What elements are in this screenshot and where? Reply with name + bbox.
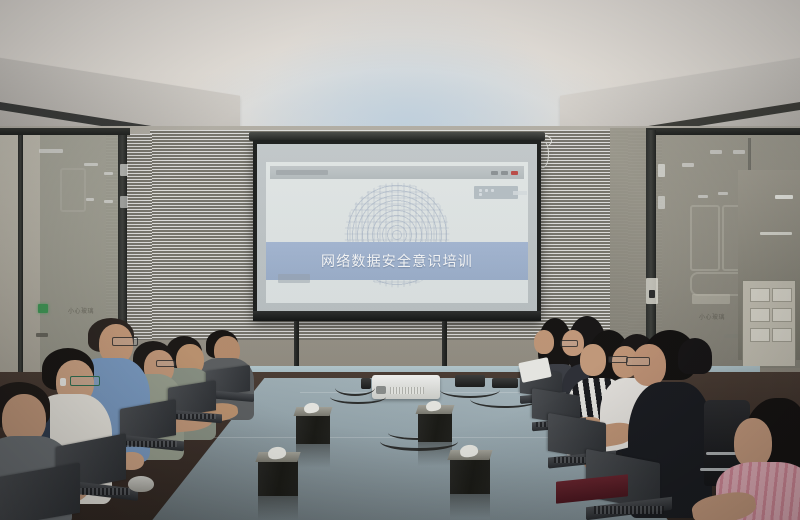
ceiling-light-reflection <box>39 149 63 153</box>
ceiling-light-reflection <box>698 195 708 198</box>
reflected-door-outline <box>60 168 86 212</box>
ceiling-light-reflection <box>104 172 113 175</box>
ceiling-light-reflection <box>84 163 98 166</box>
chair-armrest <box>706 452 736 455</box>
exit-sign-icon <box>38 304 48 313</box>
tissue-box-body <box>296 414 330 444</box>
eyeglasses-icon <box>156 360 176 367</box>
attendee-head <box>580 344 606 376</box>
shelf-item <box>772 308 792 322</box>
attendee-hair <box>678 338 712 374</box>
conference-room-photo: 小心玻璃 小心玻璃 <box>0 0 800 520</box>
wall-sensor-reflection <box>120 164 128 176</box>
glass-warning-decal: 小心玻璃 <box>699 312 725 321</box>
shelf-item <box>772 328 792 342</box>
window-title-placeholder <box>276 170 328 175</box>
projection-screen: 网络数据安全意识培训 <box>253 140 541 321</box>
window-controls <box>491 171 518 175</box>
tissue-box-body <box>418 412 452 442</box>
tissue-box-body <box>258 460 298 496</box>
reader-button[interactable] <box>649 290 655 298</box>
tissue-box-reflection <box>450 494 490 518</box>
maximize-icon[interactable] <box>501 171 508 175</box>
wall-switch-reflection <box>658 196 665 209</box>
tissue-box-reflection <box>418 442 452 466</box>
cable-run <box>330 390 386 404</box>
laptop-keyboard[interactable] <box>172 414 216 419</box>
ceiling-light-reflection <box>104 200 113 203</box>
ceiling-light-reflection <box>733 150 745 154</box>
reflected-room-outline <box>690 205 720 271</box>
wall-sensor-reflection <box>120 196 128 208</box>
screen-bottom-bar <box>253 311 541 321</box>
projected-slide: 网络数据安全意识培训 <box>266 162 528 303</box>
tissue-box-reflection <box>258 496 298 520</box>
attendee-head <box>734 418 772 468</box>
screen-surface: 网络数据安全意识培训 <box>257 144 537 311</box>
ceiling-light-reflection <box>86 198 94 201</box>
tissue-box-reflection <box>296 444 330 468</box>
computer-mouse[interactable] <box>128 476 154 492</box>
slide-footer-placeholder <box>278 274 310 283</box>
partition-frame-header-right <box>646 128 800 135</box>
partition-frame-vertical-left <box>18 130 23 375</box>
door-handle <box>36 333 48 337</box>
slide-logo <box>474 186 518 199</box>
ceiling-light-reflection <box>718 192 728 195</box>
eyeglasses-icon <box>70 376 100 386</box>
tissue-box-body <box>450 458 490 494</box>
laptop-keyboard[interactable] <box>594 506 664 514</box>
partition-frame-header-left <box>0 128 130 135</box>
ceiling-light-reflection <box>682 163 694 167</box>
access-panel <box>692 294 730 304</box>
slide-logo-bar <box>513 191 527 195</box>
minimize-icon[interactable] <box>491 171 498 175</box>
projector-vent <box>390 387 424 394</box>
slide-title: 网络数据安全意识培训 <box>321 251 473 271</box>
ceiling-light-reflection <box>710 150 722 154</box>
eyeglasses-icon <box>608 356 628 363</box>
attendee-head <box>534 330 554 354</box>
office-ceiling-light <box>760 232 792 235</box>
shelf-item <box>750 328 770 342</box>
shelf-item <box>750 288 770 302</box>
projected-window-titlebar <box>270 166 524 179</box>
door-decal-label: 小心玻璃 <box>68 306 94 315</box>
eyeglasses-icon <box>626 357 650 366</box>
wall-switch-reflection <box>658 164 665 177</box>
ceiling-light-glow <box>250 0 570 135</box>
shelf-item <box>772 288 792 302</box>
laptop-keyboard[interactable] <box>125 441 177 447</box>
office-ceiling-light <box>775 195 793 199</box>
shelf-item <box>750 308 770 322</box>
eyeglasses-icon <box>560 340 578 347</box>
eyeglasses-icon <box>112 337 138 346</box>
earbud-icon <box>60 378 66 386</box>
close-icon[interactable] <box>511 171 518 175</box>
